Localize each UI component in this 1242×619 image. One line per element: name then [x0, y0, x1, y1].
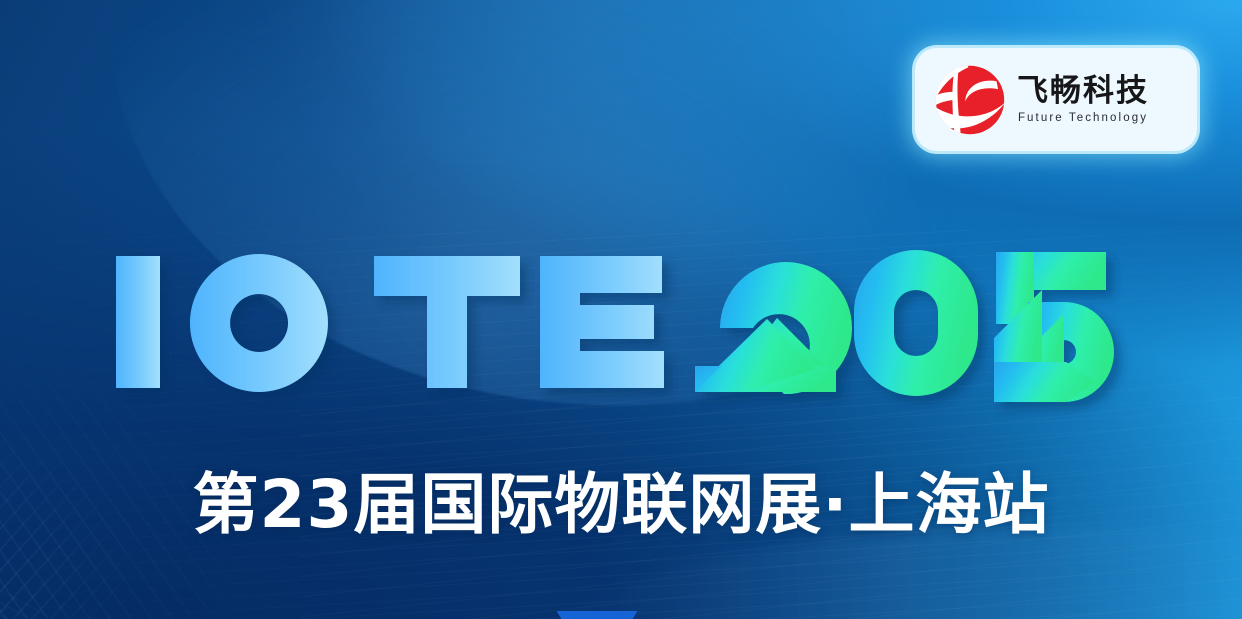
- company-name-cn: 飞畅科技: [1017, 75, 1149, 108]
- event-subtitle: 第23届国际物联网展·上海站: [0, 451, 1242, 547]
- company-logo-text: 飞畅科技 Future Technology: [1017, 75, 1149, 125]
- iote-2025-wordmark: [116, 242, 1126, 402]
- iote-2025-event-banner: 飞畅科技 Future Technology: [0, 0, 1242, 619]
- year-2025-numerals: [692, 250, 1114, 402]
- company-logo-badge[interactable]: 飞畅科技 Future Technology: [915, 48, 1197, 151]
- iote-letters: [116, 254, 664, 392]
- bottom-accent-tab: [553, 611, 641, 619]
- fc-swoosh-circle-icon: [931, 61, 1009, 139]
- company-name-en: Future Technology: [1018, 112, 1148, 124]
